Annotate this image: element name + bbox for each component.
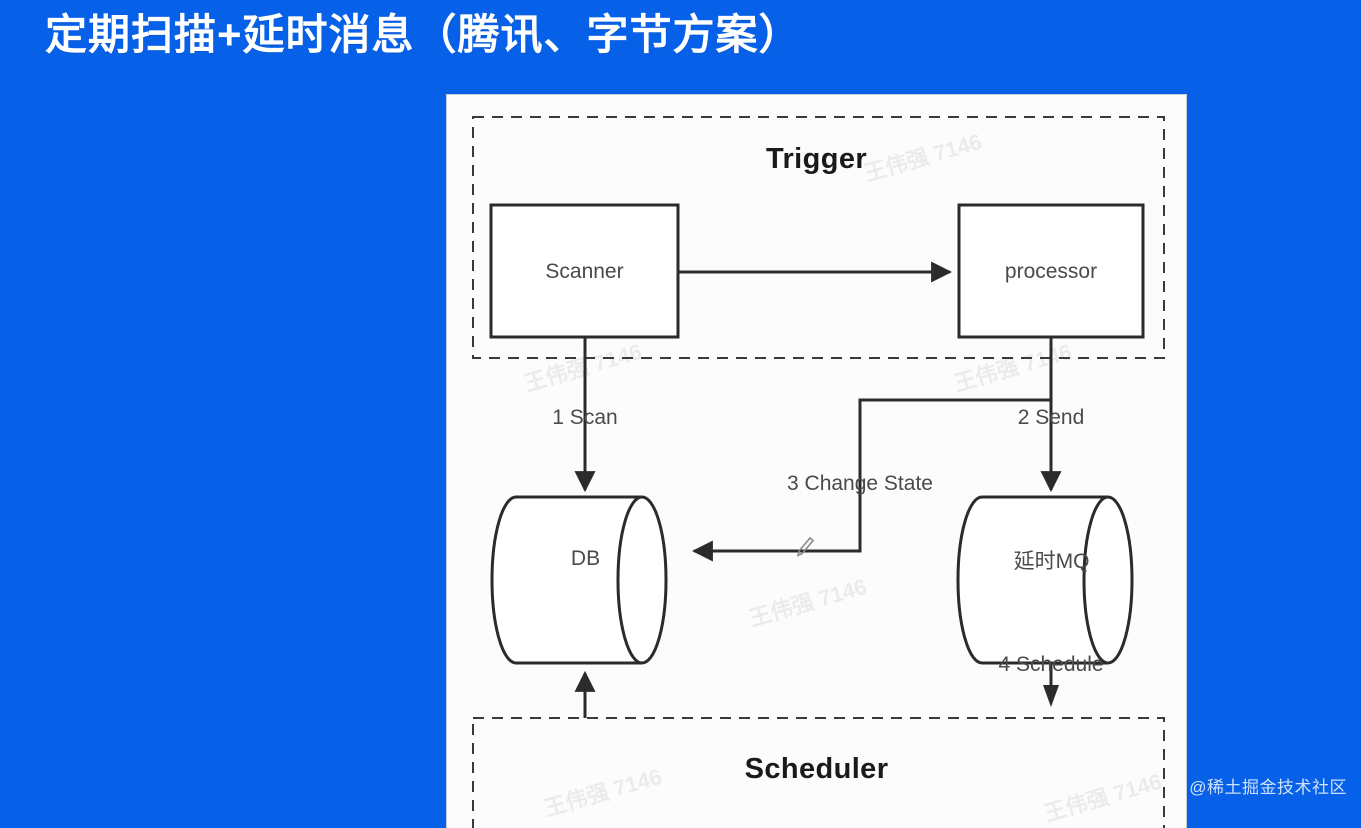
diagram-graphics — [447, 95, 1186, 828]
node-label-db: DB — [492, 547, 679, 571]
diagram-panel: 王伟强 7146 王伟强 7146 王伟强 7146 王伟强 7146 王伟强 … — [447, 95, 1186, 828]
community-watermark: @稀土掘金技术社区 — [1189, 773, 1347, 798]
node-label-mq: 延时MQ — [958, 545, 1145, 575]
node-label-processor: processor — [959, 260, 1143, 284]
edge-label-3-change-state: 3 Change State — [635, 472, 1085, 496]
node-label-scanner: Scanner — [491, 260, 678, 284]
node-db-shape — [492, 497, 666, 663]
slide-canvas: 定期扫描+延时消息（腾讯、字节方案） 王伟强 7146 王伟强 7146 王伟强… — [0, 0, 1361, 828]
edge-label-2-send: 2 Send — [951, 406, 1151, 430]
pencil-icon — [797, 538, 814, 557]
edge-label-4-schedule: 4 Schedule — [951, 653, 1151, 677]
edge-label-1-scan: 1 Scan — [485, 406, 685, 430]
edge-4-schedule-arrowhead — [1043, 685, 1059, 707]
group-label-trigger: Trigger — [447, 143, 1186, 176]
node-mq-shape — [958, 497, 1132, 663]
group-label-scheduler: Scheduler — [447, 753, 1186, 786]
page-title: 定期扫描+延时消息（腾讯、字节方案） — [45, 6, 802, 64]
